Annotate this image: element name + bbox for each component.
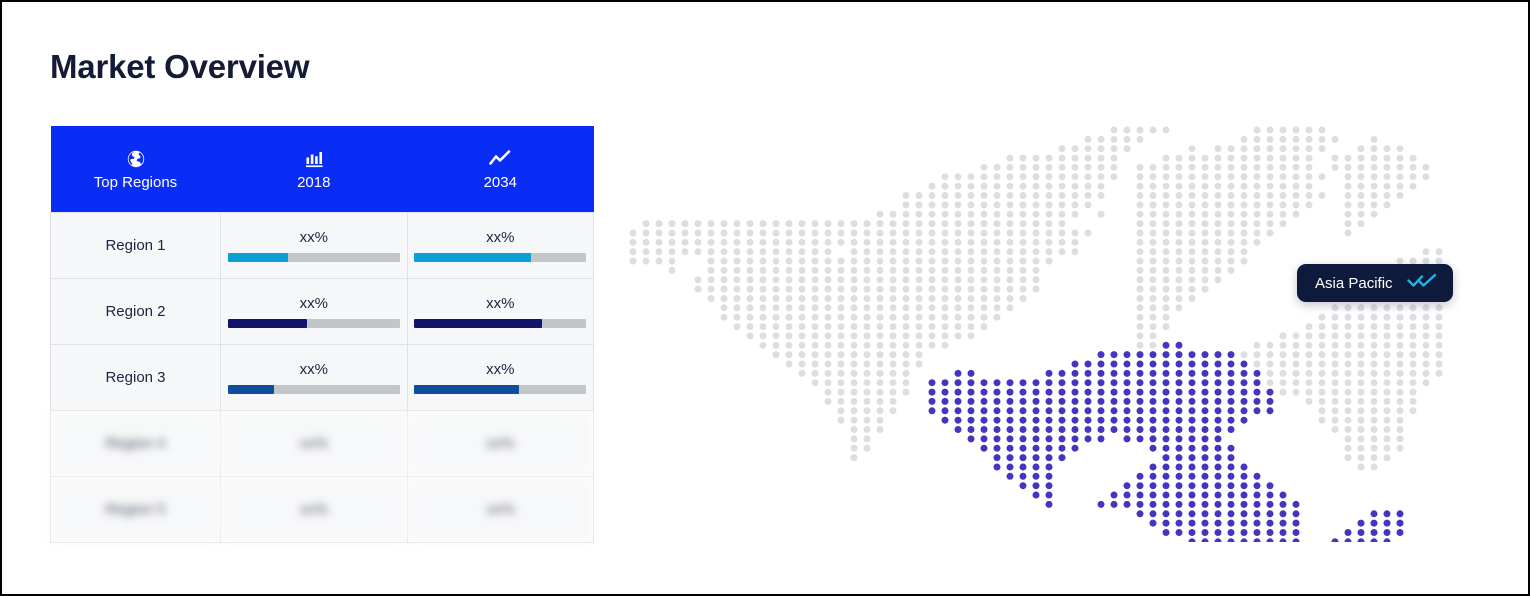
map-dot [1072,183,1079,190]
map-dot [1059,155,1066,162]
map-dot [916,220,923,227]
map-dot [1384,417,1391,424]
map-dot [1137,220,1144,227]
map-dot [1228,155,1235,162]
map-dot [708,286,715,293]
map-dot [1085,230,1092,237]
map-dot [786,323,793,330]
map-dot [1163,276,1170,283]
progress-bar-track [228,253,400,262]
map-dot [916,201,923,208]
map-dot [1176,267,1183,274]
column-header-2034[interactable]: 2034 [407,126,594,213]
map-dot [1371,351,1378,358]
map-dot-active [1020,482,1027,489]
map-dot-active [1098,370,1105,377]
map-dot-active [1241,538,1248,542]
map-dot [1150,192,1157,199]
map-dot [838,389,845,396]
map-dot-active [1124,351,1131,358]
map-dot [1163,248,1170,255]
map-dot [1371,332,1378,339]
map-dot [877,379,884,386]
map-dot [1358,407,1365,414]
map-dot-active [1189,464,1196,471]
map-dot [903,192,910,199]
map-dot-active [1033,464,1040,471]
map-dot [1410,155,1417,162]
map-dot [1020,295,1027,302]
map-dot [1241,239,1248,246]
map-dot [799,267,806,274]
map-dot [1150,183,1157,190]
map-dot [825,295,832,302]
map-dot [1423,361,1430,368]
map-dot [1163,239,1170,246]
map-dot [864,407,871,414]
map-dot [747,323,754,330]
map-dot [877,248,884,255]
map-dot [1280,183,1287,190]
map-dot [1241,230,1248,237]
map-dot [1137,258,1144,265]
map-dot [682,239,689,246]
map-dot-active [1098,435,1105,442]
map-dot [1137,164,1144,171]
map-dot [1358,454,1365,461]
map-dot [799,258,806,265]
map-dot-active [1137,482,1144,489]
map-dot-active [1020,379,1027,386]
map-dot [1137,295,1144,302]
map-dot [1176,211,1183,218]
map-dot [773,258,780,265]
map-dot-active [1189,492,1196,499]
map-dot [1254,201,1261,208]
map-dot [903,248,910,255]
map-dot [1306,127,1313,134]
map-dot-active [1020,435,1027,442]
map-dot-active [1007,398,1014,405]
map-dot [1228,230,1235,237]
map-dot-active [994,417,1001,424]
map-dot [812,332,819,339]
world-dot-map[interactable] [612,122,1502,542]
map-dot [747,239,754,246]
map-dot [994,286,1001,293]
map-dot [1332,342,1339,349]
map-dot [916,323,923,330]
map-dot [1163,286,1170,293]
map-dot [1397,398,1404,405]
map-dot-active [1098,501,1105,508]
map-dot [864,323,871,330]
map-dot-active [1059,407,1066,414]
map-dot-active [1267,398,1274,405]
map-dot [942,258,949,265]
map-dot [1007,230,1014,237]
map-dot [929,230,936,237]
map-dot [890,351,897,358]
map-dot [955,314,962,321]
map-dot-active [1241,464,1248,471]
map-dot-active [1150,417,1157,424]
map-dot [838,417,845,424]
map-dot [916,332,923,339]
map-dot [1371,145,1378,152]
map-dot-active [1228,473,1235,480]
map-dot [1267,145,1274,152]
map-dot [942,183,949,190]
map-dot [760,304,767,311]
map-dot [1423,342,1430,349]
map-dot-active [1189,454,1196,461]
map-dot [838,314,845,321]
map-dot [1137,342,1144,349]
map-dot [1176,295,1183,302]
map-dot-active [1085,398,1092,405]
map-dot-active [1150,520,1157,527]
map-dot [747,248,754,255]
map-dot-active [1098,379,1105,386]
map-dot [1345,192,1352,199]
map-dot-active [1137,370,1144,377]
map-dot-active [1072,417,1079,424]
map-dot [851,342,858,349]
map-dot [1358,464,1365,471]
map-dot [851,220,858,227]
map-dot [812,323,819,330]
map-dot [1007,239,1014,246]
metric-cell-y2034: xx% [407,345,594,411]
map-dot [1267,183,1274,190]
map-tooltip-label: Asia Pacific [1315,275,1393,292]
map-dot [1033,248,1040,255]
map-dot [1358,323,1365,330]
map-dot [1384,435,1391,442]
map-dot [864,295,871,302]
map-dot-active [955,370,962,377]
progress-bar-fill [414,253,531,262]
map-dot [786,304,793,311]
column-header-top-regions[interactable]: Top Regions [51,126,221,213]
map-dot [1163,258,1170,265]
map-dot [773,295,780,302]
table-row: Region 3xx%xx% [51,345,594,411]
map-dot [1137,286,1144,293]
map-dot [1423,370,1430,377]
map-dot [981,267,988,274]
map-dot-active [1293,520,1300,527]
map-dot [1384,314,1391,321]
map-dot [630,230,637,237]
map-dot [877,211,884,218]
map-dot-active [1007,454,1014,461]
map-dot-active [1241,398,1248,405]
map-dot-active [1176,435,1183,442]
map-dot [1163,155,1170,162]
map-dot [838,361,845,368]
map-dot [1267,173,1274,180]
map-dot-active [1124,370,1131,377]
map-dot [903,276,910,283]
metric-cell-y2018: xx% [221,345,408,411]
map-dot [968,295,975,302]
map-dot [760,323,767,330]
map-dot-active [1176,342,1183,349]
map-dot [903,361,910,368]
map-dot [916,230,923,237]
map-dot-active [1072,435,1079,442]
map-dot-active [1358,520,1365,527]
map-dot [1319,136,1326,143]
map-dot [734,276,741,283]
map-dot [981,258,988,265]
map-dot [890,211,897,218]
map-dot-active [1046,389,1053,396]
map-dot [799,342,806,349]
map-dot [1384,389,1391,396]
map-dot-active [1241,520,1248,527]
map-dot [1410,351,1417,358]
map-dot [773,332,780,339]
map-dot [1306,389,1313,396]
map-dot-active [1046,398,1053,405]
map-dot-active [1189,407,1196,414]
map-dot [916,286,923,293]
map-dot [890,258,897,265]
map-dot [1371,407,1378,414]
map-dot [1371,417,1378,424]
map-dot [1371,201,1378,208]
map-dot-active [1163,454,1170,461]
map-dot [1241,164,1248,171]
map-dot [1319,332,1326,339]
map-dot [1254,230,1261,237]
map-dot-active [955,417,962,424]
map-dot [955,230,962,237]
map-dot [1137,183,1144,190]
map-dot [760,220,767,227]
map-dot [955,220,962,227]
map-dot-active [1137,435,1144,442]
region-name-cell: Region 3 [51,345,221,411]
map-dot [1267,230,1274,237]
map-dot [812,267,819,274]
map-dot [929,342,936,349]
map-dot [1007,304,1014,311]
map-dot-active [1228,370,1235,377]
map-dot-active [1202,482,1209,489]
map-dot [1072,239,1079,246]
map-dot [1124,127,1131,134]
map-tooltip-asia-pacific[interactable]: Asia Pacific [1297,264,1453,302]
progress-bar-fill [414,319,541,328]
map-dot [929,183,936,190]
map-dot-active [1033,417,1040,424]
map-dot [1189,220,1196,227]
metric-value: xx% [300,436,328,451]
map-dot [786,239,793,246]
map-dot [1189,183,1196,190]
map-dot [1176,276,1183,283]
map-dot [1098,164,1105,171]
map-dot-active [1189,473,1196,480]
map-dot-active [968,435,975,442]
map-dot-active [1241,407,1248,414]
map-dot [799,370,806,377]
map-dot [1358,426,1365,433]
map-dot [773,248,780,255]
map-dot-active [1202,464,1209,471]
map-dot [812,342,819,349]
map-dot [1293,370,1300,377]
map-dot [708,267,715,274]
map-dot [1020,183,1027,190]
map-dot [994,173,1001,180]
map-dot-active [981,407,988,414]
map-dot [916,192,923,199]
map-dot [825,332,832,339]
map-dot [1371,183,1378,190]
map-dot-active [1163,510,1170,517]
map-dot [1436,361,1443,368]
map-dot [1137,173,1144,180]
map-dot-active [1202,379,1209,386]
map-dot [1332,361,1339,368]
map-dot-active [1176,520,1183,527]
map-dot [929,276,936,283]
map-dot-active [1150,473,1157,480]
map-dot [1397,155,1404,162]
map-dot [747,258,754,265]
map-dot-active [994,398,1001,405]
column-header-2018[interactable]: 2018 [221,126,408,213]
map-dot-active [1228,445,1235,452]
map-dot-active [1280,538,1287,542]
map-dot [903,370,910,377]
map-dot [955,332,962,339]
map-dot-active [1228,501,1235,508]
map-dot [1410,173,1417,180]
map-dot [695,230,702,237]
map-dot-active [1215,473,1222,480]
map-dot [825,267,832,274]
map-dot-active [1176,361,1183,368]
region-name-cell: Region 5 [51,477,221,543]
metric-cell-y2034: xx% [407,213,594,279]
map-dot [851,258,858,265]
map-dot [747,220,754,227]
map-dot [747,304,754,311]
map-dot-active [1020,398,1027,405]
map-dot [1371,211,1378,218]
map-dot [812,295,819,302]
map-dot-active [1098,389,1105,396]
map-dot-active [981,379,988,386]
map-dot [695,220,702,227]
map-dot [1345,454,1352,461]
map-dot-active [1176,370,1183,377]
map-dot [981,164,988,171]
progress-bar-track [414,385,586,394]
map-dot [994,211,1001,218]
map-dot [838,304,845,311]
map-dot [1280,361,1287,368]
map-dot [1371,136,1378,143]
map-dot [1280,211,1287,218]
map-dot [968,183,975,190]
map-dot [799,361,806,368]
map-dot [851,398,858,405]
map-dot [1059,164,1066,171]
map-dot [851,370,858,377]
map-dot [1358,417,1365,424]
map-dot-active [1267,538,1274,542]
map-dot-active [1254,482,1261,489]
map-dot-active [1254,370,1261,377]
map-dot [1046,164,1053,171]
map-dot-active [968,426,975,433]
map-dot [1306,351,1313,358]
map-dot-active [1163,482,1170,489]
map-dot [734,314,741,321]
map-dot [1150,173,1157,180]
map-dot-active [1254,398,1261,405]
map-dot-active [1007,464,1014,471]
map-dot [968,192,975,199]
map-dot-active [981,435,988,442]
map-dot [1280,342,1287,349]
map-dot [1163,314,1170,321]
map-dot-active [1215,538,1222,542]
map-dot-active [1189,482,1196,489]
map-dot [1072,201,1079,208]
map-dot [1098,173,1105,180]
map-dot [1345,173,1352,180]
map-dot [864,230,871,237]
map-dot [942,220,949,227]
map-dot [851,239,858,246]
map-dot-active [1267,510,1274,517]
map-dot-active [1137,351,1144,358]
map-dot-active [1046,464,1053,471]
map-dot [773,351,780,358]
map-dot [851,267,858,274]
map-dot [1345,426,1352,433]
map-dot [773,267,780,274]
map-dot-active [1059,445,1066,452]
table-header: Top Regions [51,126,594,213]
map-dot [773,276,780,283]
map-dot-active [1072,370,1079,377]
map-dot [1397,389,1404,396]
map-dot-active [1176,389,1183,396]
map-dot [1254,192,1261,199]
map-dot [1371,323,1378,330]
map-dot [1345,201,1352,208]
map-dot [1332,314,1339,321]
map-dot-active [1150,389,1157,396]
map-dot [968,239,975,246]
map-dot [916,276,923,283]
map-dot [1397,173,1404,180]
map-dot [1098,145,1105,152]
map-dot-active [1137,379,1144,386]
map-dot [1293,145,1300,152]
map-dot [708,248,715,255]
map-dot [1423,164,1430,171]
